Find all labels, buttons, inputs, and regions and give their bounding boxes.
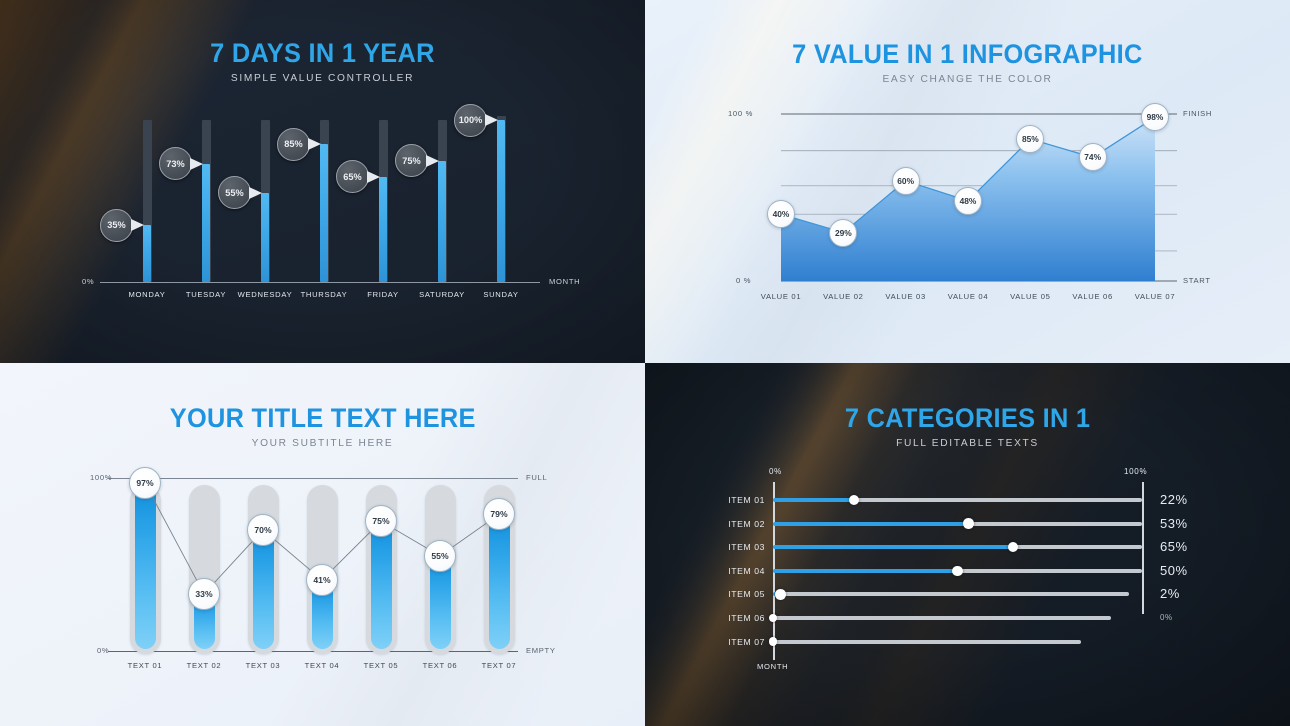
capsule-value-bubble: 41% bbox=[306, 564, 338, 596]
categories-item-value: 22% bbox=[1160, 492, 1188, 507]
value-axis-bottom-label: 0 % bbox=[736, 276, 751, 285]
categories-axis-right-label: 100% bbox=[1124, 467, 1147, 476]
categories-item-value: 53% bbox=[1160, 516, 1188, 531]
categories-slider-fill[interactable] bbox=[773, 545, 1013, 549]
categories-slider-knob[interactable] bbox=[952, 566, 962, 576]
days-bar-fill bbox=[202, 164, 210, 282]
capsule-full-label: FULL bbox=[526, 473, 547, 482]
value-axis-top-label: 100 % bbox=[728, 109, 753, 118]
capsule-value-bubble: 33% bbox=[188, 578, 220, 610]
categories-slider-fill[interactable] bbox=[773, 569, 958, 573]
categories-slider-track bbox=[773, 616, 1111, 620]
categories-slider-knob[interactable] bbox=[1008, 542, 1018, 552]
categories-item-label: ITEM 06 bbox=[677, 613, 765, 623]
capsule-chart: 100%0%FULLEMPTY97%TEXT 0133%TEXT 0270%TE… bbox=[0, 363, 645, 726]
capsule-value-bubble: 55% bbox=[424, 540, 456, 572]
days-value-bubble: 65% bbox=[336, 160, 369, 193]
days-value-bubble: 73% bbox=[159, 147, 192, 180]
days-bar-fill bbox=[379, 177, 387, 282]
categories-slider-knob[interactable] bbox=[769, 637, 778, 646]
categories-item-value: 2% bbox=[1160, 586, 1180, 601]
categories-slider-fill[interactable] bbox=[773, 522, 969, 526]
value-area-chart: 100 %0 %FINISHSTARTVALUE 0140%VALUE 0229… bbox=[645, 0, 1290, 363]
categories-axis-bottom-label: MONTH bbox=[757, 662, 788, 671]
categories-right-axis bbox=[1142, 482, 1144, 614]
capsule-value-bubble: 97% bbox=[129, 467, 161, 499]
days-bubble-pointer bbox=[131, 219, 144, 231]
categories-slider-knob[interactable] bbox=[849, 495, 859, 505]
categories-item-value: 65% bbox=[1160, 539, 1188, 554]
panel-categories: 7 CATEGORIES IN 1 FULL EDITABLE TEXTS 0%… bbox=[645, 363, 1290, 726]
panel-title-text: YOUR TITLE TEXT HERE YOUR SUBTITLE HERE … bbox=[0, 363, 645, 726]
days-value-bubble: 75% bbox=[395, 144, 428, 177]
capsule-empty-label: EMPTY bbox=[526, 646, 556, 655]
days-bubble-pointer bbox=[367, 171, 380, 183]
categories-slider-knob[interactable] bbox=[769, 614, 778, 623]
categories-item-label: ITEM 07 bbox=[677, 637, 765, 647]
panel-value: 7 VALUE IN 1 INFOGRAPHIC EASY CHANGE THE… bbox=[645, 0, 1290, 363]
value-finish-label: FINISH bbox=[1183, 109, 1212, 118]
categories-item-label: ITEM 04 bbox=[677, 566, 765, 576]
categories-slider-knob[interactable] bbox=[775, 589, 785, 599]
value-point-bubble: 29% bbox=[829, 219, 857, 247]
capsule-fill bbox=[253, 530, 274, 649]
categories-item-label: ITEM 05 bbox=[677, 589, 765, 599]
categories-slider-track bbox=[773, 640, 1081, 644]
categories-slider-track bbox=[773, 592, 1129, 596]
capsule-axis-bottom-label: 0% bbox=[97, 646, 109, 655]
days-category-label: SUNDAY bbox=[456, 290, 546, 299]
capsule-top-line bbox=[108, 478, 518, 479]
days-bubble-pointer bbox=[190, 158, 203, 170]
value-area-svg bbox=[645, 0, 1290, 363]
infographic-board: 7 DAYS IN 1 YEAR SIMPLE VALUE CONTROLLER… bbox=[0, 0, 1290, 726]
days-bubble-pointer bbox=[485, 114, 498, 126]
capsule-category-label: TEXT 07 bbox=[459, 661, 539, 670]
capsule-value-bubble: 75% bbox=[365, 505, 397, 537]
days-chart: 0%MONTH35%MONDAY73%TUESDAY55%WEDNESDAY85… bbox=[0, 0, 645, 363]
capsule-axis-top-label: 100% bbox=[90, 473, 112, 482]
value-start-label: START bbox=[1183, 276, 1211, 285]
value-point-bubble: 74% bbox=[1079, 143, 1107, 171]
categories-item-label: ITEM 02 bbox=[677, 519, 765, 529]
days-bar-fill bbox=[261, 193, 269, 282]
categories-axis-left-label: 0% bbox=[769, 467, 782, 476]
categories-item-value: 0% bbox=[1160, 613, 1173, 622]
capsule-value-bubble: 70% bbox=[247, 514, 279, 546]
categories-slider-knob[interactable] bbox=[963, 518, 973, 528]
capsule-fill bbox=[135, 483, 156, 649]
days-value-bubble: 85% bbox=[277, 128, 310, 161]
categories-item-label: ITEM 01 bbox=[677, 495, 765, 505]
days-bubble-pointer bbox=[426, 155, 439, 167]
value-point-bubble: 60% bbox=[892, 167, 920, 195]
days-bar-fill bbox=[143, 225, 151, 282]
categories-slider-chart: 0%100%MONTHITEM 0122%ITEM 0253%ITEM 0365… bbox=[645, 363, 1290, 726]
days-value-bubble: 35% bbox=[100, 209, 133, 242]
days-bar-fill bbox=[438, 161, 446, 283]
capsule-fill bbox=[371, 521, 392, 649]
days-value-bubble: 100% bbox=[454, 104, 487, 137]
value-point-bubble: 48% bbox=[954, 187, 982, 215]
categories-slider-fill[interactable] bbox=[773, 498, 854, 502]
days-baseline bbox=[100, 282, 540, 283]
days-axis-min-label: 0% bbox=[82, 277, 94, 286]
days-bar-fill bbox=[497, 120, 505, 282]
value-point-bubble: 40% bbox=[767, 200, 795, 228]
days-bubble-pointer bbox=[249, 187, 262, 199]
days-axis-right-label: MONTH bbox=[549, 277, 580, 286]
days-bar-fill bbox=[320, 144, 328, 282]
categories-item-value: 50% bbox=[1160, 563, 1188, 578]
days-bubble-pointer bbox=[308, 138, 321, 150]
categories-item-label: ITEM 03 bbox=[677, 542, 765, 552]
days-value-bubble: 55% bbox=[218, 176, 251, 209]
panel-days: 7 DAYS IN 1 YEAR SIMPLE VALUE CONTROLLER… bbox=[0, 0, 645, 363]
capsule-fill bbox=[489, 514, 510, 649]
value-category-label: VALUE 07 bbox=[1115, 292, 1195, 301]
